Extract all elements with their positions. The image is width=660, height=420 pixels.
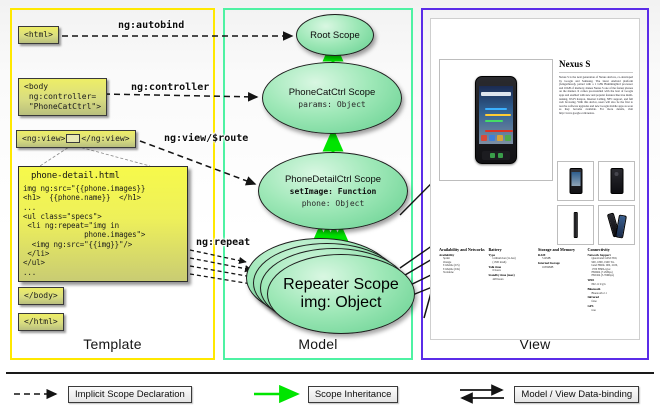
legend-divider — [6, 372, 654, 374]
sticky-note-title: phone-detail.html — [23, 170, 183, 184]
spec-value: true — [588, 309, 636, 312]
scope-repeater-stack[interactable]: Repeater Scope img: Object — [246, 238, 416, 336]
connector-label-ng-controller: ng:controller — [131, 82, 209, 93]
spec-value: 428 hours — [489, 278, 537, 281]
screen-line-red — [485, 130, 513, 132]
scope-phonedetailctrl-prop-phone: phone: Object — [302, 199, 365, 209]
tag-html[interactable]: <html> — [18, 26, 59, 44]
thumbnail-phone-back[interactable] — [598, 161, 635, 201]
legend-item-implicit: Implicit Scope Declaration — [12, 386, 192, 403]
phone-app-icons — [481, 135, 511, 141]
spec-column-storage: Storage and Memory RAM 512MB Internal St… — [538, 247, 586, 312]
legend-item-databinding: Model / View Data-binding — [458, 385, 639, 403]
spec-column-battery: Battery Type Lithium Ion (Li-Ion) (1500 … — [489, 247, 537, 312]
title-divider — [559, 72, 633, 73]
spec-value: (1500 mAh) — [489, 261, 537, 264]
tag-body-close[interactable]: </body> — [18, 287, 64, 305]
product-title: Nexus S — [559, 59, 633, 69]
spec-value: 16384MB — [538, 266, 586, 269]
tag-ng-view-open: <ng:view> — [22, 134, 65, 143]
spec-heading: Storage and Memory — [538, 247, 586, 252]
spec-heading: Battery — [489, 247, 537, 252]
scope-phonedetailctrl-prop-setimage: setImage: Function — [290, 187, 377, 197]
product-description: Nexus S is the next generation of Nexus … — [559, 76, 633, 116]
spec-value: Vodafone — [439, 271, 487, 274]
scope-phonecatctrl-title: PhoneCatCtrl Scope — [289, 87, 376, 98]
legend-label-inheritance: Scope Inheritance — [308, 386, 399, 403]
phone-hardware-buttons — [482, 151, 510, 160]
screen-line-green — [485, 120, 503, 122]
legend-item-inheritance: Scope Inheritance — [252, 386, 399, 403]
spec-column-connectivity: Connectivity Network Support Quad-band G… — [588, 247, 636, 312]
spec-value: false — [588, 300, 636, 303]
thumbnail-grid — [557, 161, 635, 245]
tag-html-close[interactable]: </html> — [18, 313, 64, 331]
spec-value: HSUPA (5.76Mbps) — [588, 274, 636, 277]
scope-repeater-prop-img: img: Object — [301, 294, 382, 312]
phone-hero-image — [475, 76, 517, 164]
scope-root[interactable]: Root Scope — [296, 14, 374, 56]
spec-heading: Availability and Networks — [439, 247, 487, 252]
connector-label-ng-view-route: ng:view/$route — [164, 133, 248, 144]
scope-phonedetailctrl-title: PhoneDetailCtrl Scope — [285, 174, 381, 185]
diagram-canvas: Template Model View — [0, 0, 660, 420]
green-arrow-icon — [252, 387, 308, 401]
scope-phonedetailctrl[interactable]: PhoneDetailCtrl Scope setImage: Function… — [258, 152, 408, 230]
spec-heading: Connectivity — [588, 247, 636, 252]
tag-ng-view-close: </ng:view> — [81, 134, 129, 143]
legend: Implicit Scope Declaration Scope Inherit… — [6, 382, 654, 406]
thumbnail-phone-side[interactable] — [557, 205, 594, 245]
dashed-arrow-icon — [12, 387, 68, 401]
spec-value: 802.11 b/g/n — [588, 283, 636, 286]
connector-label-ng-repeat: ng:repeat — [196, 237, 250, 248]
rendered-view-page: Nexus S Nexus S is the next generation o… — [430, 18, 640, 340]
scope-phonecatctrl-prop-params: params: Object — [298, 100, 365, 110]
scope-phonecatctrl[interactable]: PhoneCatCtrl Scope params: Object — [262, 62, 402, 134]
scope-repeater[interactable]: Repeater Scope img: Object — [267, 254, 415, 334]
ng-view-slot-icon — [66, 134, 80, 143]
scope-repeater-title: Repeater Scope — [283, 276, 399, 294]
column-label-template: Template — [10, 336, 215, 352]
specs-table: Availability and Networks Availability S… — [439, 247, 635, 312]
phone-search-bar — [481, 92, 511, 96]
spec-column-availability: Availability and Networks Availability S… — [439, 247, 487, 312]
screen-line-blue — [485, 108, 507, 110]
phone-screen — [479, 86, 513, 144]
hero-image-frame[interactable] — [439, 59, 553, 181]
scope-root-title: Root Scope — [310, 30, 360, 41]
sticky-note-phone-detail[interactable]: phone-detail.html img ng:src="{{phone.im… — [18, 166, 188, 282]
legend-label-implicit: Implicit Scope Declaration — [68, 386, 192, 403]
sticky-note-code: img ng:src="{{phone.images}} <h1> {{phon… — [23, 184, 183, 277]
tag-ng-view[interactable]: <ng:view></ng:view> — [16, 130, 136, 148]
tag-body[interactable]: <body ng:controller= "PhoneCatCtrl"> — [18, 78, 107, 116]
legend-label-databinding: Model / View Data-binding — [514, 386, 639, 403]
column-label-model: Model — [223, 336, 413, 352]
screen-line-yellow — [485, 114, 511, 116]
thumbnail-phone-angle[interactable] — [598, 205, 635, 245]
thumbnail-phone-front[interactable] — [557, 161, 594, 201]
double-arrow-icon — [458, 385, 514, 403]
connector-label-ng-autobind: ng:autobind — [118, 20, 184, 31]
